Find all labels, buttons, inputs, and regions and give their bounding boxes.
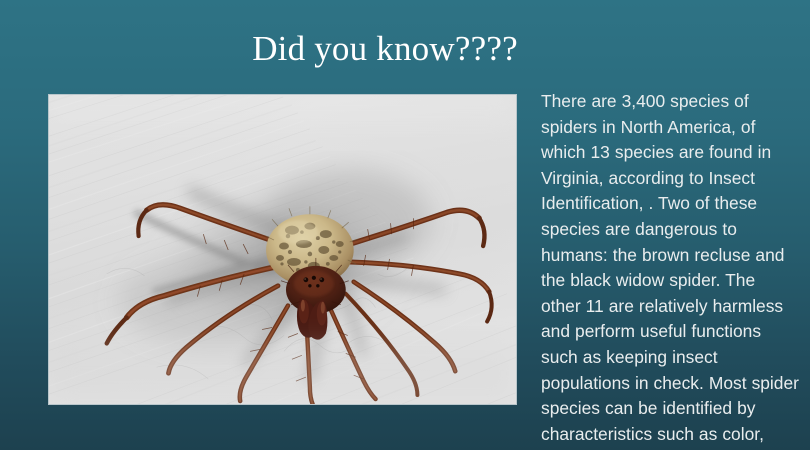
slide-canvas: Did you know???? <box>0 0 810 450</box>
page-title: Did you know???? <box>0 27 770 71</box>
body-paragraph: There are 3,400 species of spiders in No… <box>541 89 799 450</box>
spider-photo <box>48 94 517 405</box>
spider-photo-graphic <box>49 95 516 404</box>
